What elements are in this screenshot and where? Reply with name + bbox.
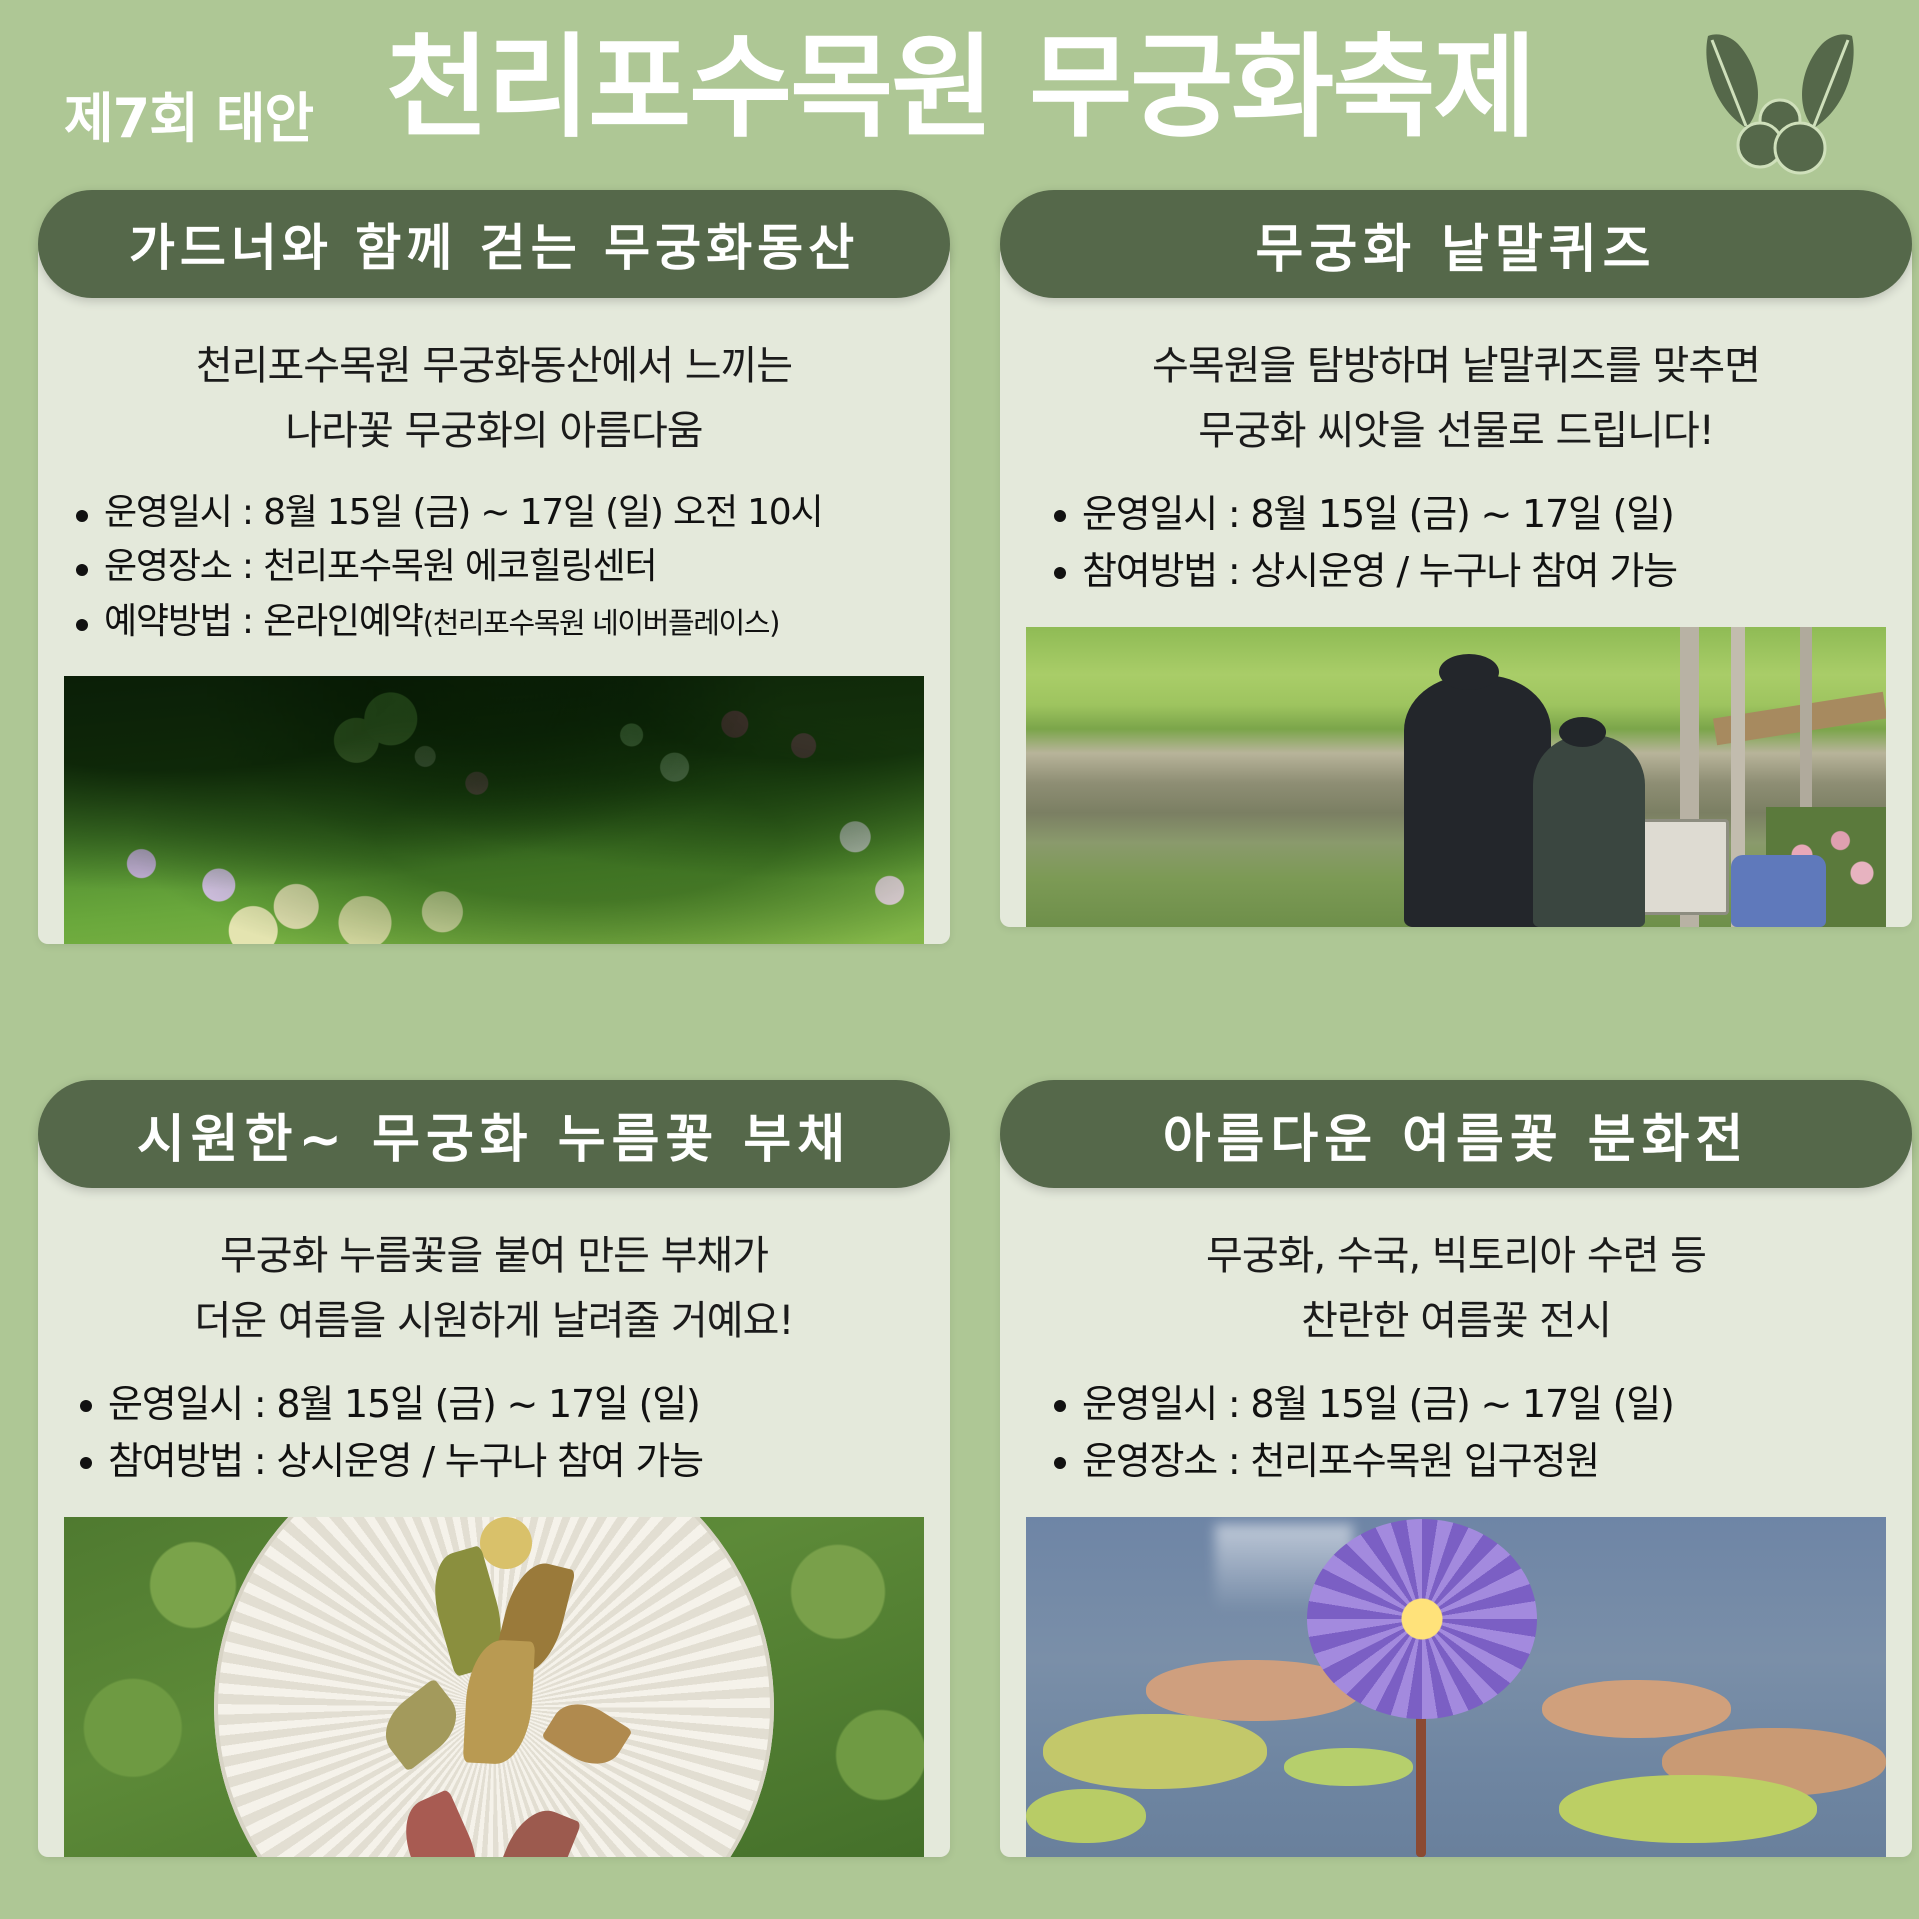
- card-lead-line-2: 나라꽃 무궁화의 아름다움: [64, 395, 924, 460]
- poster-header: 제7회 태안 천리포수목원 무궁화축제: [0, 0, 1919, 180]
- lily-pad-shape: [1559, 1775, 1817, 1843]
- pressed-leaf-shape: [541, 1692, 632, 1777]
- card-lead-line-2: 더운 여름을 시원하게 날려줄 거예요!: [64, 1285, 924, 1350]
- list-item: 운영일시 : 8월 15일 (금) ~ 17일 (일): [74, 1376, 924, 1434]
- visitors-at-pond-photo: [1026, 627, 1886, 927]
- list-item: 예약방법 : 온라인예약(천리포수목원 네이버플레이스): [70, 595, 924, 650]
- blue-bag-shape: [1731, 855, 1826, 927]
- list-item: 운영장소 : 천리포수목원 에코힐링센터: [70, 540, 924, 595]
- card-lead-line-1: 천리포수목원 무궁화동산에서 느끼는: [64, 330, 924, 395]
- card-title: 시원한~ 무궁화 누름꽃 부채: [137, 1097, 851, 1172]
- lily-pad-shape: [1542, 1680, 1731, 1738]
- smiley-leaf-face-shape: [480, 1517, 532, 1569]
- spacer: [64, 650, 924, 676]
- card-title-pill: 아름다운 여름꽃 분화전: [1000, 1080, 1912, 1188]
- card-detail-list: 운영일시 : 8월 15일 (금) ~ 17일 (일) 오전 10시 운영장소 …: [64, 486, 924, 650]
- list-item: 운영장소 : 천리포수목원 입구정원: [1048, 1433, 1886, 1491]
- card-body: 무궁화 누름꽃을 붙여 만든 부채가 더운 여름을 시원하게 날려줄 거예요! …: [38, 1134, 950, 1857]
- lily-pad-shape: [1043, 1714, 1267, 1789]
- card-lead-line-2: 무궁화 씨앗을 선물로 드립니다!: [1026, 395, 1886, 460]
- purple-water-lily-photo: [1026, 1517, 1886, 1857]
- lily-pad-shape: [1284, 1748, 1413, 1785]
- child-visitor-shape: [1533, 735, 1645, 927]
- header-edition: 제7회 태안: [64, 74, 313, 153]
- spacer: [64, 1491, 924, 1517]
- card-detail-list: 운영일시 : 8월 15일 (금) ~ 17일 (일) 운영장소 : 천리포수목…: [1026, 1376, 1886, 1492]
- card-title-pill: 무궁화 낱말퀴즈: [1000, 190, 1912, 298]
- spacer: [1026, 1491, 1886, 1517]
- detail-text: 운영일시 : 8월 15일 (금) ~ 17일 (일): [1082, 1382, 1674, 1426]
- page-title: 천리포수목원 무궁화축제: [386, 30, 1534, 148]
- pressed-leaf-shape: [392, 1789, 491, 1857]
- detail-text: 참여방법 : 상시운영 / 누구나 참여 가능: [1082, 549, 1677, 593]
- lily-pad-shape: [1026, 1789, 1146, 1843]
- card-body: 천리포수목원 무궁화동산에서 느끼는 나라꽃 무궁화의 아름다움 운영일시 : …: [38, 244, 950, 944]
- detail-text: 참여방법 : 상시운영 / 누구나 참여 가능: [108, 1439, 703, 1483]
- card-detail-list: 운영일시 : 8월 15일 (금) ~ 17일 (일) 참여방법 : 상시운영 …: [64, 1376, 924, 1492]
- card-lead-line-1: 무궁화 누름꽃을 붙여 만든 부채가: [64, 1220, 924, 1285]
- list-item: 참여방법 : 상시운영 / 누구나 참여 가능: [1048, 543, 1886, 601]
- detail-text: 운영장소 : 천리포수목원 입구정원: [1082, 1439, 1599, 1483]
- adult-head-shape: [1439, 654, 1499, 690]
- program-card-word-quiz[interactable]: 무궁화 낱말퀴즈 수목원을 탐방하며 낱말퀴즈를 맞추면 무궁화 씨앗을 선물로…: [1000, 190, 1912, 927]
- program-card-summer-flower-exhibition[interactable]: 아름다운 여름꽃 분화전 무궁화, 수국, 빅토리아 수련 등 찬란한 여름꽃 …: [1000, 1080, 1912, 1857]
- card-body: 수목원을 탐방하며 낱말퀴즈를 맞추면 무궁화 씨앗을 선물로 드립니다! 운영…: [1000, 244, 1912, 927]
- adult-visitor-shape: [1404, 675, 1550, 927]
- program-card-grid: 가드너와 함께 걷는 무궁화동산 천리포수목원 무궁화동산에서 느끼는 나라꽃 …: [0, 190, 1919, 1919]
- card-detail-list: 운영일시 : 8월 15일 (금) ~ 17일 (일) 참여방법 : 상시운영 …: [1026, 486, 1886, 602]
- pressed-flower-fan-photo: [64, 1517, 924, 1857]
- detail-text: 예약방법 : 온라인예약: [104, 601, 423, 642]
- detail-text: 운영일시 : 8월 15일 (금) ~ 17일 (일): [108, 1382, 700, 1426]
- lily-bloom-shape: [1307, 1519, 1537, 1719]
- list-item: 운영일시 : 8월 15일 (금) ~ 17일 (일) 오전 10시: [70, 486, 924, 541]
- detail-text: 운영일시 : 8월 15일 (금) ~ 17일 (일): [1082, 492, 1674, 536]
- detail-text: 운영장소 : 천리포수목원 에코힐링센터: [104, 546, 656, 587]
- card-lead-line-1: 무궁화, 수국, 빅토리아 수련 등: [1026, 1220, 1886, 1285]
- pressed-leaf-shape: [489, 1801, 582, 1857]
- detail-note: (천리포수목원 네이버플레이스): [423, 606, 779, 640]
- list-item: 운영일시 : 8월 15일 (금) ~ 17일 (일): [1048, 486, 1886, 544]
- list-item: 운영일시 : 8월 15일 (금) ~ 17일 (일): [1048, 1376, 1886, 1434]
- card-body: 무궁화, 수국, 빅토리아 수련 등 찬란한 여름꽃 전시 운영일시 : 8월 …: [1000, 1134, 1912, 1857]
- card-lead-line-2: 찬란한 여름꽃 전시: [1026, 1285, 1886, 1350]
- program-card-pressed-flower-fan[interactable]: 시원한~ 무궁화 누름꽃 부채 무궁화 누름꽃을 붙여 만든 부채가 더운 여름…: [38, 1080, 950, 1857]
- spacer: [1026, 601, 1886, 627]
- hibiscus-garden-photo: [64, 676, 924, 944]
- quiz-board-shape: [1637, 819, 1729, 915]
- card-title-pill: 가드너와 함께 걷는 무궁화동산: [38, 190, 950, 298]
- card-title: 아름다운 여름꽃 분화전: [1163, 1097, 1750, 1172]
- detail-text: 운영일시 : 8월 15일 (금) ~ 17일 (일) 오전 10시: [104, 492, 822, 533]
- pressed-leaf-shape: [372, 1678, 469, 1772]
- list-item: 참여방법 : 상시운영 / 누구나 참여 가능: [74, 1433, 924, 1491]
- card-lead-line-1: 수목원을 탐방하며 낱말퀴즈를 맞추면: [1026, 330, 1886, 395]
- holly-leaves-berries-logo-icon: [1690, 22, 1870, 182]
- program-card-gardener-walk[interactable]: 가드너와 함께 걷는 무궁화동산 천리포수목원 무궁화동산에서 느끼는 나라꽃 …: [38, 190, 950, 944]
- card-title-pill: 시원한~ 무궁화 누름꽃 부채: [38, 1080, 950, 1188]
- card-title: 가드너와 함께 걷는 무궁화동산: [129, 208, 859, 280]
- card-title: 무궁화 낱말퀴즈: [1256, 207, 1657, 282]
- paper-fan-shape: [214, 1517, 774, 1857]
